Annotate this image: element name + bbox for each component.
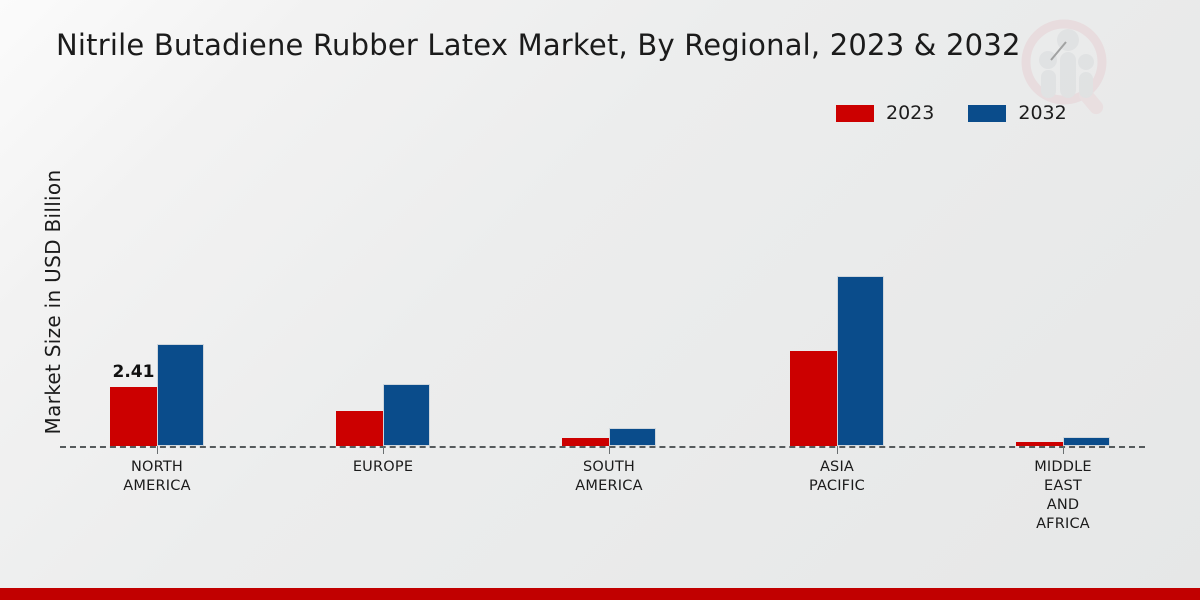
bar-2032-north-america[interactable] (157, 344, 204, 446)
bar-value-label-north-america-2023: 2.41 (113, 362, 155, 382)
x-label-line: AFRICA (988, 515, 1138, 534)
bar-group-north-america: 2.41 (110, 344, 204, 446)
x-tick-north-america (157, 446, 158, 454)
x-label-asia-pacific: ASIA PACIFIC (762, 458, 912, 496)
x-label-line: AMERICA (534, 477, 684, 496)
bar-2023-middle-east-and-africa[interactable] (1016, 442, 1063, 446)
bar-2032-europe[interactable] (383, 384, 430, 446)
x-label-line: AND (988, 496, 1138, 515)
x-label-south-america: SOUTH AMERICA (534, 458, 684, 496)
x-label-north-america: NORTH AMERICA (82, 458, 232, 496)
bar-2032-south-america[interactable] (609, 428, 656, 446)
x-label-line: EUROPE (308, 458, 458, 477)
x-tick-asia-pacific (837, 446, 838, 454)
x-axis-baseline (60, 446, 1145, 448)
x-label-europe: EUROPE (308, 458, 458, 477)
bar-2023-north-america[interactable]: 2.41 (110, 387, 157, 446)
bottom-accent-bar (0, 588, 1200, 600)
chart-canvas: Nitrile Butadiene Rubber Latex Market, B… (0, 0, 1200, 600)
x-tick-south-america (609, 446, 610, 454)
x-tick-middle-east-and-africa (1063, 446, 1064, 454)
bar-2032-middle-east-and-africa[interactable] (1063, 437, 1110, 446)
bar-2032-asia-pacific[interactable] (837, 276, 884, 446)
bar-group-europe (336, 384, 430, 446)
x-label-line: MIDDLE (988, 458, 1138, 477)
x-label-line: PACIFIC (762, 477, 912, 496)
bar-2023-south-america[interactable] (562, 438, 609, 446)
x-label-middle-east-and-africa: MIDDLE EAST AND AFRICA (988, 458, 1138, 533)
bar-group-south-america (562, 428, 656, 446)
bar-2023-asia-pacific[interactable] (790, 351, 837, 446)
bar-group-asia-pacific (790, 276, 884, 446)
x-label-line: ASIA (762, 458, 912, 477)
x-tick-europe (383, 446, 384, 454)
x-label-line: AMERICA (82, 477, 232, 496)
plot-area: 2.41 NORTH AMERICA EUROPE SOUTH AMERICA (0, 0, 1200, 600)
bar-2023-europe[interactable] (336, 411, 383, 446)
x-label-line: NORTH (82, 458, 232, 477)
x-label-line: EAST (988, 477, 1138, 496)
bar-group-middle-east-and-africa (1016, 437, 1110, 446)
x-label-line: SOUTH (534, 458, 684, 477)
